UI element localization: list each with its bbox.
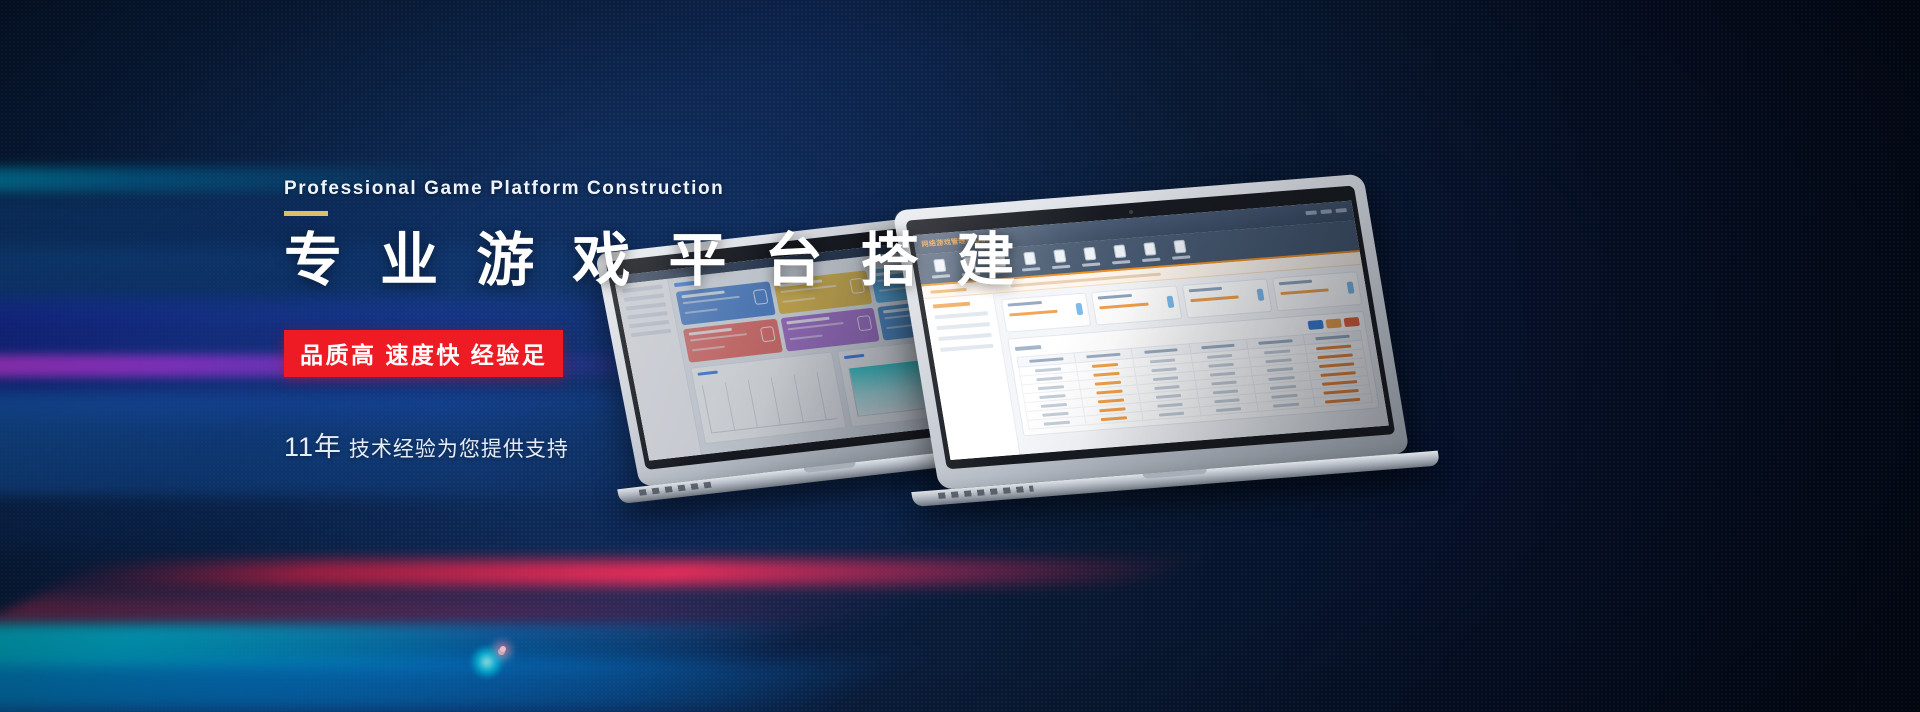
light-streak-crimson (36, 560, 1205, 586)
admin-header-actions[interactable] (1305, 208, 1347, 215)
light-streak-dim (0, 500, 594, 546)
light-streak-cyan-lower (0, 664, 897, 710)
sidebar-item[interactable] (938, 333, 992, 341)
log-icon (1143, 242, 1156, 256)
toolbar-item-export[interactable] (1103, 243, 1136, 264)
logout-icon[interactable] (1335, 208, 1347, 213)
chart-icon (1166, 296, 1174, 308)
webcam-icon (1129, 210, 1134, 214)
stat-card[interactable] (1091, 285, 1182, 325)
sidebar-item[interactable] (940, 344, 994, 352)
sidebar-item-active[interactable] (933, 302, 970, 309)
user-menu-icon[interactable] (1305, 210, 1317, 215)
hero-banner: Professional Game Platform Construction … (0, 0, 1920, 712)
subline-text: 技术经验为您提供支持 (349, 438, 569, 461)
add-button[interactable] (1344, 317, 1360, 327)
toolbar-item-logs[interactable] (1133, 241, 1166, 262)
light-streak-cyan-main (0, 624, 818, 672)
eyebrow-tagline: Professional Game Platform Construction (284, 178, 924, 200)
logout-icon (1173, 239, 1186, 253)
status-badge: 品质高 速度快 经验足 (284, 330, 563, 377)
chart-icon (1076, 303, 1084, 315)
panel-actions[interactable] (1307, 317, 1360, 330)
sidebar-item[interactable] (934, 311, 988, 319)
toolbar-item-settings[interactable] (1073, 246, 1106, 267)
stat-card[interactable] (1001, 292, 1092, 332)
hero-copy: Professional Game Platform Construction … (284, 178, 924, 464)
gear-icon (1083, 246, 1096, 260)
export-icon (1113, 244, 1126, 258)
chart-icon (1347, 281, 1355, 293)
years-value: 11年 (284, 432, 342, 462)
admin-content (994, 265, 1389, 455)
reports-icon (1053, 249, 1066, 263)
data-table-panel (1007, 311, 1380, 437)
toolbar-item-logout[interactable] (1163, 239, 1196, 260)
settings-icon[interactable] (1320, 209, 1332, 214)
stat-card[interactable] (1272, 271, 1363, 311)
spark-dot-red (500, 646, 506, 652)
panel-title (1015, 345, 1042, 351)
stat-card[interactable] (1181, 278, 1272, 318)
toolbar-item-reports[interactable] (1043, 248, 1076, 269)
sidebar-item[interactable] (936, 322, 990, 330)
light-streak-blue-bottom (0, 656, 936, 712)
admin-body (924, 265, 1389, 460)
page-title: 专 业 游 戏 平 台 搭 建 (284, 229, 924, 294)
chart-icon (1256, 289, 1264, 301)
gold-rule-divider (284, 211, 328, 216)
export-button[interactable] (1325, 318, 1341, 328)
light-streak-crimson-soft (0, 596, 932, 630)
laptop-front-lid: 网络游戏管理中心系统 (893, 174, 1410, 490)
query-button[interactable] (1307, 320, 1323, 330)
experience-subline: 11年 技术经验为您提供支持 (284, 425, 924, 464)
